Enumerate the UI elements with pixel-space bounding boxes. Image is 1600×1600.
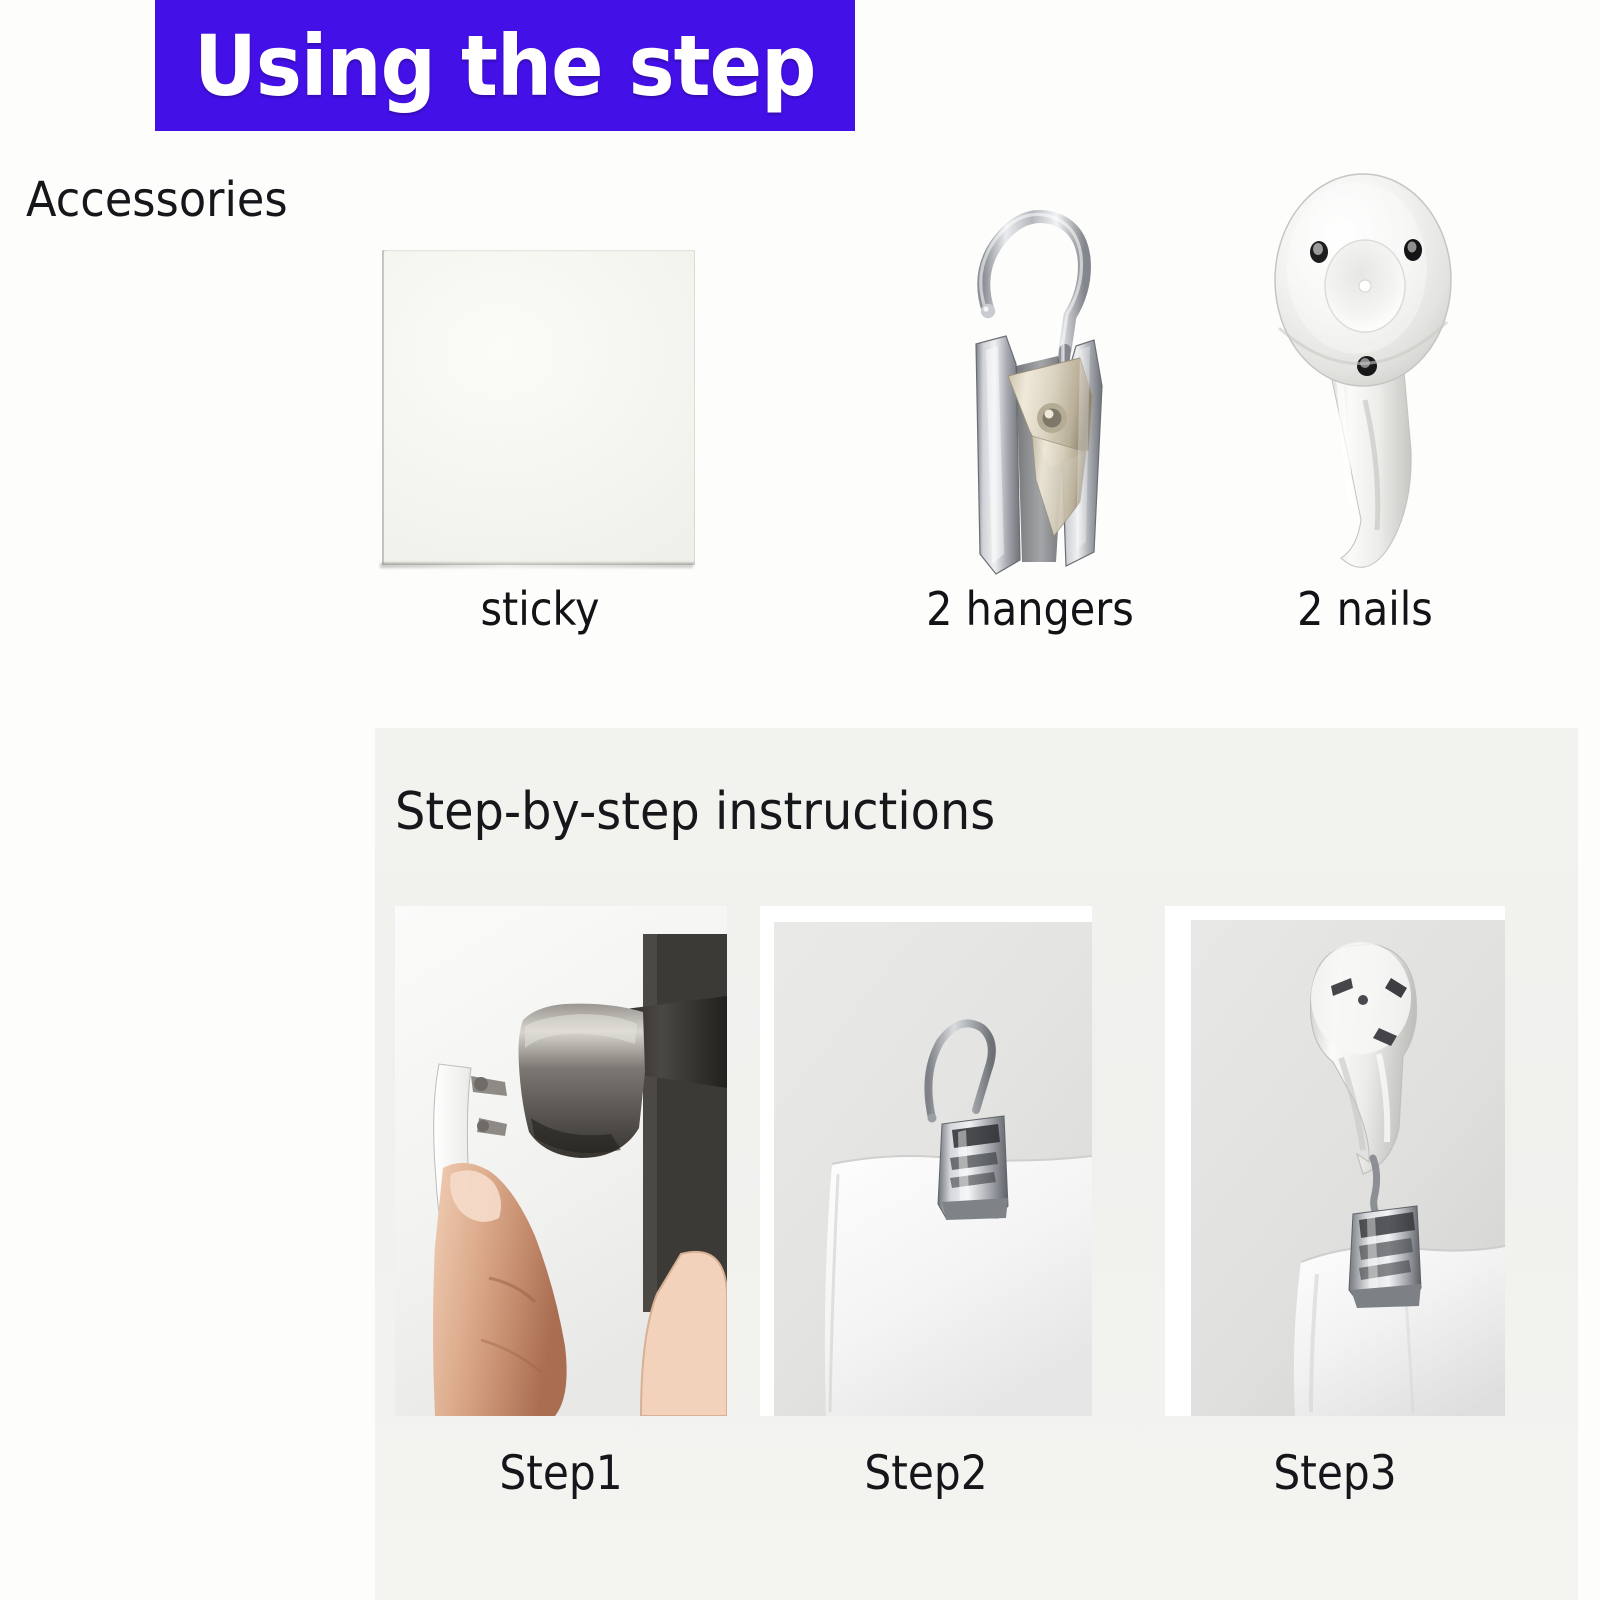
accessory-label-hangers: 2 hangers [895,582,1165,636]
step-label-3: Step3 [1182,1446,1488,1501]
step-item-3: Step3 [1165,906,1505,1546]
accessory-label-sticky: sticky [351,582,729,636]
hammering-nail-hook-photo [395,906,727,1416]
infographic-page: Using the step Accessories sticky [0,0,1600,1600]
step-by-step-heading: Step-by-step instructions [395,782,995,842]
hanger-clip-icon [880,150,1180,580]
step-by-step-panel: Step-by-step instructions [375,728,1578,1600]
accessories-row: sticky [0,150,1600,670]
accessory-item-hangers: 2 hangers [880,150,1180,670]
step-label-1: Step1 [412,1446,711,1501]
step-photos-row: Step1 [375,906,1578,1546]
hook-with-clip-on-wall-photo [1165,906,1505,1416]
page-title: Using the step [194,24,816,108]
wall-hook-nail-icon [1215,150,1515,580]
accessory-item-nails: 2 nails [1215,150,1515,670]
accessory-item-sticky: sticky [330,150,750,670]
step-item-2: Step2 [760,906,1092,1546]
clip-holding-sheet-photo [760,906,1092,1416]
adhesive-pad-icon [330,150,750,580]
step-label-2: Step2 [777,1446,1076,1501]
title-banner: Using the step [155,0,855,131]
accessory-label-nails: 2 nails [1230,582,1500,636]
step-item-1: Step1 [395,906,727,1546]
